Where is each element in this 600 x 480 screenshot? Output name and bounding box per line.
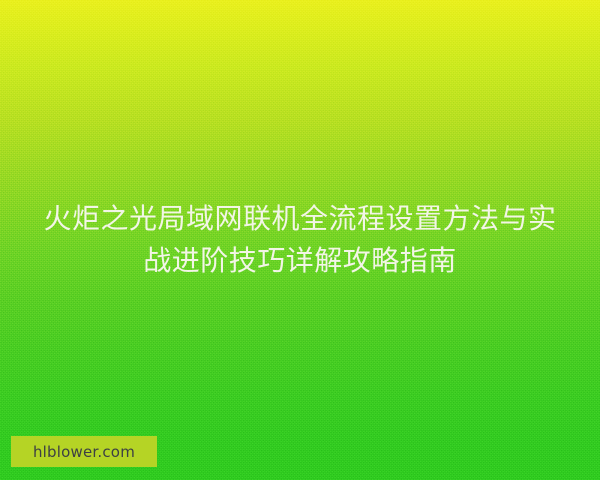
banner-title: 火炬之光局域网联机全流程设置方法与实 战进阶技巧详解攻略指南	[0, 198, 600, 282]
banner-image: 火炬之光局域网联机全流程设置方法与实 战进阶技巧详解攻略指南 hlblower.…	[0, 0, 600, 480]
watermark-text: hlblower.com	[33, 443, 135, 461]
title-line-1: 火炬之光局域网联机全流程设置方法与实	[22, 198, 578, 240]
watermark-badge: hlblower.com	[11, 436, 157, 467]
title-line-2: 战进阶技巧详解攻略指南	[22, 240, 578, 282]
